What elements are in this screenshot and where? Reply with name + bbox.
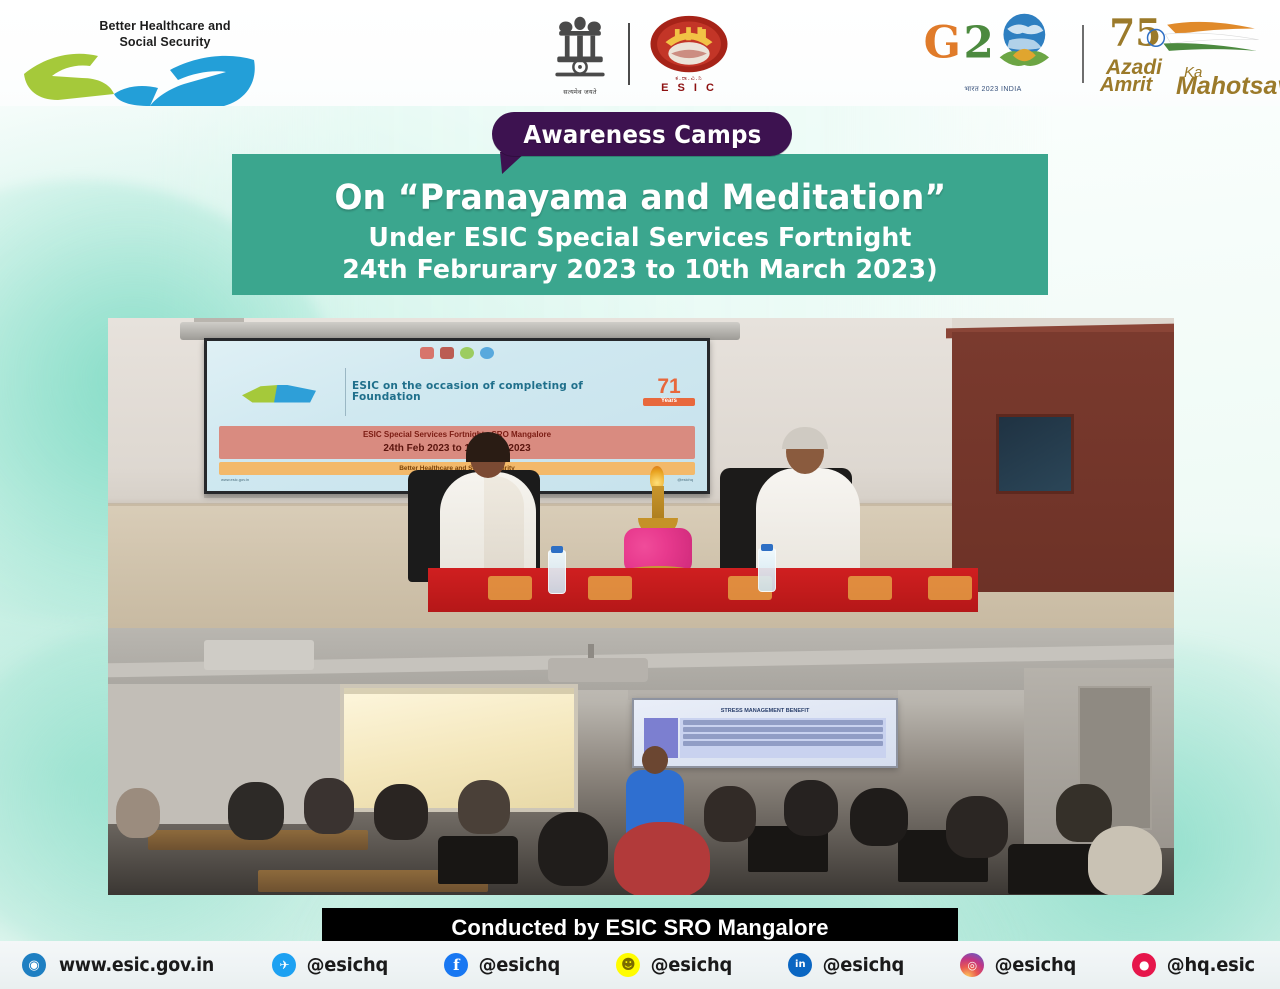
table-motif	[848, 576, 892, 600]
social-handle[interactable]: www.esic.gov.in	[59, 955, 214, 976]
title-banner: Awareness Camps On “Pranayama and Medita…	[0, 112, 1280, 302]
attendee	[458, 780, 510, 834]
page-title: On “Pranayama and Meditation”	[334, 180, 946, 217]
esic-logo: ಕ.ರಾ.ವಿ.ನಿ E S I C	[646, 11, 732, 97]
inauguration-photo: ESIC on the occasion of completing of Fo…	[108, 318, 1174, 628]
table-motif	[488, 576, 532, 600]
bottle-cap	[761, 544, 773, 551]
photo-collage: ESIC on the occasion of completing of Fo…	[108, 318, 1174, 895]
svg-text:75: 75	[1109, 10, 1161, 54]
social-handle[interactable]: @hq.esic	[1167, 954, 1255, 976]
logo-divider	[1082, 25, 1084, 83]
poster-canvas: Better Healthcare and Social Security	[0, 0, 1280, 989]
social-item-facebook[interactable]: f @esichq	[444, 953, 563, 977]
slide-years-number: 71	[657, 375, 680, 398]
hands-icon	[242, 385, 316, 403]
slide-logo-icon	[460, 347, 474, 359]
koo-icon[interactable]: ●	[1132, 953, 1156, 977]
social-item-instagram[interactable]: ◎ @esichq	[960, 953, 1079, 977]
caption-text: Conducted by ESIC SRO Mangalore	[451, 915, 828, 941]
attendee	[614, 822, 710, 895]
slide-main-row: ESIC on the occasion of completing of Fo…	[213, 361, 701, 423]
azadi-text-mahotsav: Mahotsav	[1176, 72, 1280, 101]
title-subtitle-line1: Under ESIC Special Services Fortnight	[368, 223, 911, 254]
g20-logo: G 2 भारत 2023 INDIA	[918, 8, 1068, 100]
audience-seating	[108, 778, 1174, 895]
window-blind	[344, 688, 574, 694]
chair	[438, 836, 518, 884]
attendee	[116, 788, 160, 838]
social-item-linkedin[interactable]: in @esichq	[788, 953, 907, 977]
photo-door-window	[996, 414, 1074, 494]
slide-headline: ESIC on the occasion of completing of Fo…	[352, 381, 637, 404]
person-hair	[466, 432, 510, 462]
slide-footer-left: www.esic.gov.in	[221, 477, 249, 482]
social-handle[interactable]: @esichq	[307, 954, 389, 976]
social-item-koo[interactable]: ● @hq.esic	[1132, 953, 1258, 977]
slide-table-row	[683, 741, 883, 746]
table-motif	[588, 576, 632, 600]
govt-esic-logos: सत्यमेव जयते ಕ.ರಾ.ವಿ.ನಿ E S I C	[530, 6, 750, 102]
social-item-snapchat[interactable]: ☻ @esichq	[616, 953, 735, 977]
snapchat-icon[interactable]: ☻	[616, 953, 640, 977]
svg-text:G: G	[924, 17, 961, 68]
g20-azadi-logos: G 2 भारत 2023 INDIA 75	[908, 4, 1268, 104]
awareness-camps-badge: Awareness Camps	[492, 112, 792, 156]
social-handle[interactable]: @esichq	[651, 954, 733, 976]
social-item-website[interactable]: ◉ www.esic.gov.in	[22, 953, 219, 977]
facebook-icon[interactable]: f	[444, 953, 468, 977]
slide-table-col-body	[680, 718, 886, 758]
slide-years-label: Years	[643, 398, 695, 405]
linkedin-icon[interactable]: in	[788, 953, 812, 977]
attendee	[304, 778, 354, 834]
instagram-icon[interactable]: ◎	[960, 953, 984, 977]
svg-text:2: 2	[964, 17, 994, 68]
person-hair	[782, 427, 828, 449]
badge-label: Awareness Camps	[523, 120, 761, 149]
water-bottle	[758, 548, 776, 592]
attendee	[850, 788, 908, 846]
attendee	[228, 782, 284, 840]
slide-divider	[345, 368, 346, 416]
emblem-caption: सत्यमेव जयते	[548, 87, 612, 96]
hands-icon	[18, 44, 268, 106]
social-item-twitter[interactable]: ✈ @esichq	[272, 953, 391, 977]
water-bottle	[548, 550, 566, 594]
slide-table-row	[683, 734, 883, 739]
twitter-icon[interactable]: ✈	[272, 953, 296, 977]
slide-logo-icon	[480, 347, 494, 359]
attendee	[946, 796, 1008, 858]
social-handle[interactable]: @esichq	[995, 954, 1077, 976]
attendee	[704, 786, 756, 842]
slide-table-row	[683, 727, 883, 732]
attendee	[1088, 826, 1162, 895]
slide-title: STRESS MANAGEMENT BENEFIT	[634, 708, 896, 714]
person-head	[642, 746, 668, 774]
azadi-ka-amrit-mahotsav-logo: 75 Azadi Ka Amrit Mahotsav	[1098, 6, 1268, 102]
website-globe-icon[interactable]: ◉	[22, 953, 46, 977]
slide-years-badge: 71 Years	[643, 378, 695, 405]
social-handle[interactable]: @esichq	[479, 954, 561, 976]
slide-esic-logo	[219, 382, 339, 403]
esic-label: E S I C	[661, 83, 717, 94]
g20-subtext: भारत 2023 INDIA	[918, 85, 1068, 94]
attendee	[784, 780, 838, 836]
logo-tagline-line1: Better Healthcare and	[70, 18, 260, 34]
slide-logo-icon	[440, 347, 454, 359]
better-healthcare-logo: Better Healthcare and Social Security	[10, 8, 280, 104]
seated-dignitary-left	[426, 436, 544, 586]
title-text-block: On “Pranayama and Meditation” Under ESIC…	[232, 160, 1048, 292]
azadi-text-amrit: Amrit	[1100, 74, 1152, 97]
slide-table-row	[683, 720, 883, 725]
air-conditioner	[204, 640, 314, 670]
social-footer-bar: ◉ www.esic.gov.in ✈ @esichq f @esichq ☻ …	[0, 941, 1280, 989]
attendee	[538, 812, 608, 886]
logo-divider	[628, 23, 630, 85]
social-handle[interactable]: @esichq	[823, 954, 905, 976]
stage-table	[428, 568, 978, 612]
bottle-cap	[551, 546, 563, 553]
attendee	[374, 784, 428, 840]
ceiling-projector	[548, 658, 648, 682]
slide-logo-icon	[420, 347, 434, 359]
audience-photo: STRESS MANAGEMENT BENEFIT	[108, 628, 1174, 895]
title-subtitle-line2: 24th Februrary 2023 to 10th March 2023)	[342, 255, 938, 286]
ashoka-emblem-icon: सत्यमेव जयते	[548, 12, 612, 96]
table-motif	[928, 576, 972, 600]
header-logo-strip: Better Healthcare and Social Security	[0, 0, 1280, 106]
slide-logo-row	[213, 345, 701, 361]
